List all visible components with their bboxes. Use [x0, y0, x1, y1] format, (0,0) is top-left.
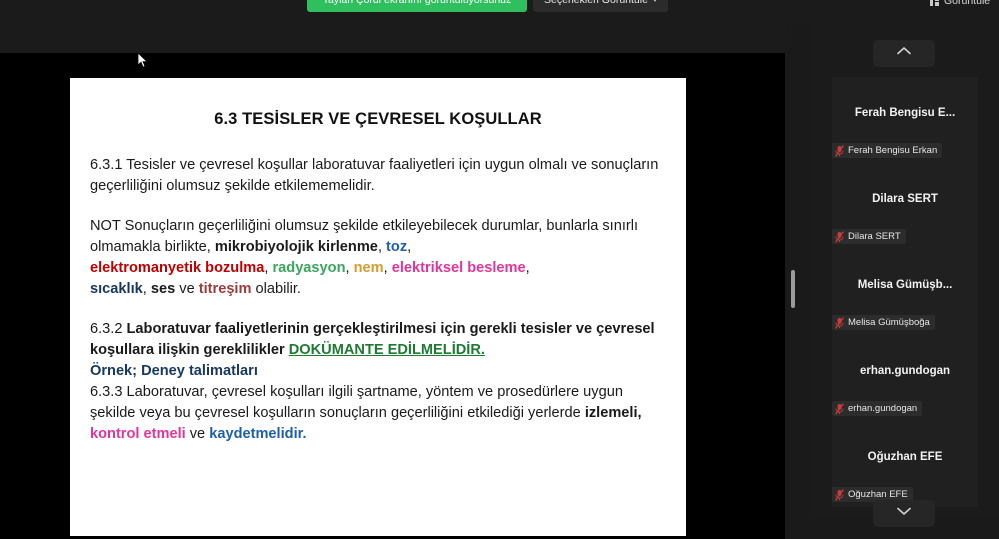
term-ses: ses — [151, 281, 175, 297]
participant-tile[interactable]: Ferah Bengisu E... Ferah Bengisu Erkan — [832, 77, 978, 163]
chevron-down-icon — [896, 506, 912, 516]
view-options-button[interactable]: Seçenekleri Görüntüle▾ — [533, 0, 668, 12]
participant-display-name: erhan.gundogan — [832, 365, 978, 377]
term-titresim: titreşim — [199, 281, 252, 297]
participant-badge-name: erhan.gundogan — [848, 403, 917, 414]
term-sicaklik: sıcaklık — [90, 281, 143, 297]
chevron-up-icon — [896, 46, 912, 56]
participant-name-badge: Ferah Bengisu Erkan — [832, 143, 942, 158]
mic-off-icon — [835, 144, 844, 156]
sep: ve — [186, 426, 210, 442]
participant-display-name: Oğuzhan EFE — [832, 451, 978, 463]
note-tail-text: olabilir. — [251, 281, 300, 297]
term-ornek-deney-talimatlari: Örnek; Deney talimatları — [90, 363, 258, 379]
scroll-up-button[interactable] — [873, 40, 935, 67]
paragraph-631-text: 6.3.1 Tesisler ve çevresel koşullar labo… — [90, 157, 658, 194]
participant-tile[interactable]: Melisa Gümüşb... Melisa Gümüşboğa — [832, 249, 978, 335]
term-izlemeli: izlemeli, — [585, 405, 642, 421]
sep: , — [407, 239, 411, 255]
view-mode-button[interactable]: Görüntüle — [930, 0, 990, 12]
term-kontrol-etmeli: kontrol etmeli — [90, 426, 186, 442]
slide-paragraph-632: 6.3.2 Laboratuvar faaliyetlerinin gerçek… — [90, 319, 666, 382]
slide-paragraph-633: 6.3.3 Laboratuvar, çevresel koşulları il… — [90, 382, 666, 445]
participant-tile[interactable]: Dilara SERT Dilara SERT — [832, 163, 978, 249]
participant-tile[interactable]: Oğuzhan EFE Oğuzhan EFE — [832, 421, 978, 507]
term-radyasyon: radyasyon — [272, 260, 345, 276]
mic-off-icon — [835, 488, 844, 500]
participant-badge-name: Oğuzhan EFE — [848, 489, 908, 500]
presentation-stage: 6.3 TESİSLER VE ÇEVRESEL KOŞULLAR 6.3.1 … — [0, 25, 785, 511]
participant-sidebar: Ferah Bengisu E... Ferah Bengisu Erkan D… — [810, 25, 999, 519]
stage-scrollbar-handle[interactable] — [791, 270, 795, 308]
participant-badge-name: Dilara SERT — [848, 231, 901, 242]
sep: , — [378, 239, 386, 255]
mic-off-icon — [835, 316, 844, 328]
participant-name-badge: Melisa Gümüşboğa — [832, 315, 935, 330]
grid-layout-icon — [930, 0, 939, 6]
participant-display-name: Dilara SERT — [832, 193, 978, 205]
spacer — [90, 197, 666, 216]
participant-display-name: Melisa Gümüşb... — [832, 279, 978, 291]
top-bar: Taylan Çördi ekranını görüntülüyorsunuz … — [0, 0, 999, 25]
view-options-label: Seçenekleri Görüntüle — [544, 0, 648, 6]
spacer — [90, 300, 666, 319]
term-elektriksel-besleme: elektriksel besleme — [392, 260, 526, 276]
participant-name-badge: Dilara SERT — [832, 229, 906, 244]
sep: , — [526, 260, 530, 276]
shared-slide[interactable]: 6.3 TESİSLER VE ÇEVRESEL KOŞULLAR 6.3.1 … — [70, 78, 686, 536]
term-kaydetmelidir: kaydetmelidir. — [209, 426, 306, 442]
participant-tile-list: Ferah Bengisu E... Ferah Bengisu Erkan D… — [832, 77, 978, 507]
slide-paragraph-note: NOT Sonuçların geçerliliğini olumsuz şek… — [90, 216, 666, 300]
sep: ve — [175, 281, 199, 297]
participant-tile[interactable]: erhan.gundogan erhan.gundogan — [832, 335, 978, 421]
mic-off-icon — [835, 402, 844, 414]
term-dokumante-edilmelidir: DOKÜMANTE EDİLMELİDİR. — [289, 342, 485, 358]
term-elektromanyetik-bozulma: elektromanyetik bozulma — [90, 260, 264, 276]
chevron-down-icon: ▾ — [653, 0, 657, 4]
slide-paragraph-631: 6.3.1 Tesisler ve çevresel koşullar labo… — [90, 155, 666, 197]
term-mikrobiyolojik-kirlenme: mikrobiyolojik kirlenme — [215, 239, 378, 255]
sep: , — [143, 281, 151, 297]
participant-name-badge: erhan.gundogan — [832, 401, 922, 416]
participant-display-name: Ferah Bengisu E... — [832, 107, 978, 119]
sep: , — [384, 260, 392, 276]
participant-badge-name: Ferah Bengisu Erkan — [848, 145, 937, 156]
mic-off-icon — [835, 230, 844, 242]
sep: , — [346, 260, 354, 276]
view-mode-label: Görüntüle — [944, 0, 990, 12]
participant-badge-name: Melisa Gümüşboğa — [848, 317, 930, 328]
term-nem: nem — [354, 260, 384, 276]
paragraph-633-text: 6.3.3 Laboratuvar, çevresel koşulları il… — [90, 384, 623, 421]
term-toz: toz — [386, 239, 407, 255]
scroll-down-button[interactable] — [873, 500, 935, 527]
paragraph-632-number: 6.3.2 — [90, 321, 127, 337]
slide-title: 6.3 TESİSLER VE ÇEVRESEL KOŞULLAR — [70, 110, 686, 129]
screen-share-banner: Taylan Çördi ekranını görüntülüyorsunuz — [307, 0, 527, 12]
